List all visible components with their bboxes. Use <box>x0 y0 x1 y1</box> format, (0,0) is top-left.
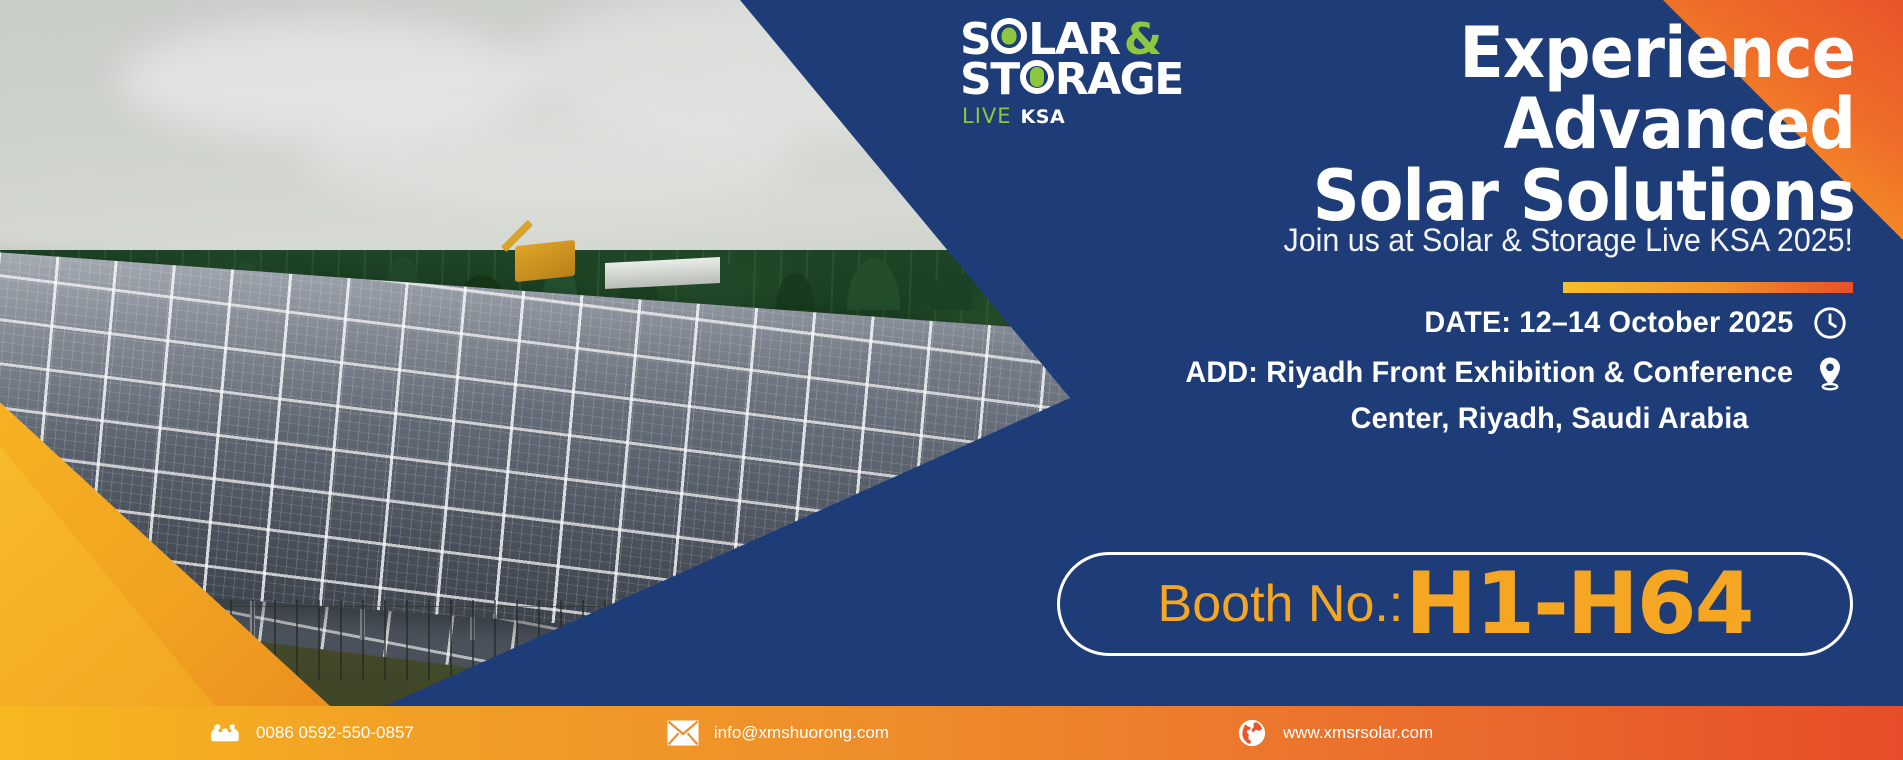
phone-number: 0086 0592-550-0857 <box>256 723 414 743</box>
date-text: DATE: 12–14 October 2025 <box>1424 306 1793 340</box>
subtitle: Join us at Solar & Storage Live KSA 2025… <box>1065 222 1854 259</box>
logo-ksa-text: KSA <box>1021 109 1066 126</box>
logo-battery-icon <box>1020 60 1054 94</box>
email-address: info@xmshuorong.com <box>714 723 889 743</box>
date-row: DATE: 12–14 October 2025 <box>991 302 1851 344</box>
envelope-icon <box>666 716 700 750</box>
address-row: ADD: Riyadh Front Exhibition & Conferenc… <box>991 352 1851 394</box>
location-pin-icon <box>1809 352 1851 394</box>
address-line-1: ADD: Riyadh Front Exhibition & Conferenc… <box>1185 356 1793 390</box>
website-url: www.xmsrsolar.com <box>1283 723 1433 743</box>
booth-label: Booth No.: <box>1158 574 1404 634</box>
contact-website[interactable]: www.xmsrsolar.com <box>1235 716 1433 750</box>
headline: Experience Advanced Solar Solutions <box>1083 18 1855 232</box>
logo-live-text: LIVE <box>962 107 1012 126</box>
booth-value: H1-H64 <box>1405 561 1752 647</box>
contact-email[interactable]: info@xmshuorong.com <box>666 716 889 750</box>
contact-phone[interactable]: 0086 0592-550-0857 <box>208 716 414 750</box>
contact-bar: 0086 0592-550-0857 info@xmshuorong.com <box>0 706 1903 760</box>
gradient-divider <box>1563 282 1853 293</box>
promo-banner: S LAR & ST RAGE LIVE KSA Experience Adva… <box>0 0 1903 760</box>
logo-text-st: ST <box>960 60 1019 100</box>
headline-line-1: Experience <box>1083 18 1855 89</box>
event-info: DATE: 12–14 October 2025 ADD: Riyadh Fro… <box>991 302 1851 444</box>
globe-icon <box>1235 716 1269 750</box>
excavator <box>515 240 575 282</box>
address-row-continued: Center, Riyadh, Saudi Arabia <box>991 402 1851 436</box>
clock-icon <box>1809 302 1851 344</box>
headline-line-2: Advanced <box>1083 89 1855 160</box>
logo-sun-icon <box>991 18 1027 54</box>
telephone-icon <box>208 716 242 750</box>
address-line-2: Center, Riyadh, Saudi Arabia <box>1351 402 1749 436</box>
booth-number-badge: Booth No.: H1-H64 <box>1057 552 1853 656</box>
